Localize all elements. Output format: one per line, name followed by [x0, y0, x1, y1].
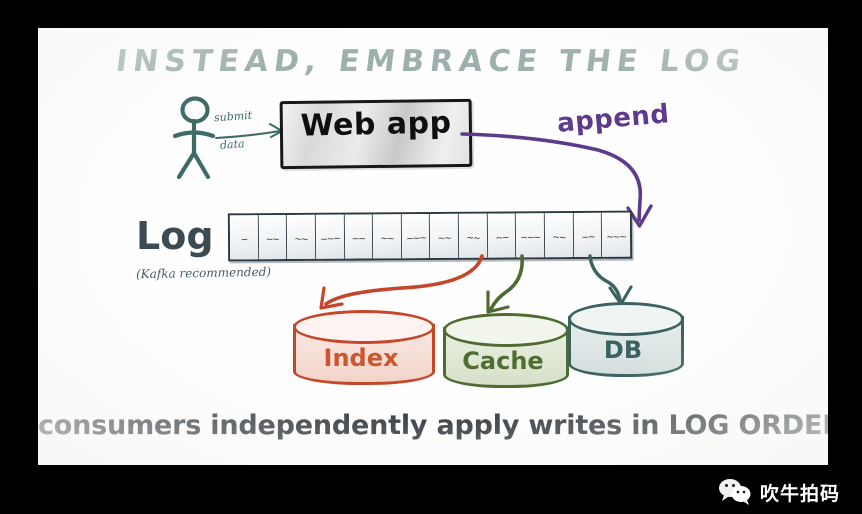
log-cell: ~~	[373, 214, 402, 258]
consumer-index-label: Index	[293, 344, 429, 372]
log-entry-squiggle: ~~	[552, 232, 566, 243]
log-entry-squiggle: ~~	[495, 233, 509, 244]
log-entry-squiggle: ~~~	[320, 234, 340, 245]
log-entry-squiggle: ~~	[380, 234, 394, 245]
log-entry-squiggle: ~~~	[520, 233, 540, 243]
log-cell: ~~	[488, 213, 517, 257]
consumer-cache: Cache	[443, 313, 563, 389]
log-cell: ~~	[287, 215, 316, 259]
log-cell: ~~	[545, 213, 574, 257]
log-entry-squiggle: ~~~	[406, 233, 426, 244]
cylinder-top	[443, 313, 569, 347]
log-cell: ~~	[430, 214, 459, 258]
log-cell: ~~~	[602, 213, 630, 257]
screenshot-frame: INSTEAD, EMBRACE THE LOG submit data Web…	[0, 0, 862, 514]
caption-text: consumers independently apply writes in …	[38, 410, 828, 441]
log-cell: ~~~	[516, 213, 545, 257]
consumer-db-label: DB	[568, 336, 678, 364]
log-entry-squiggle: ~~	[466, 233, 480, 244]
cylinder-top	[568, 302, 684, 336]
cylinder-top	[293, 310, 435, 344]
log-entry-squiggle: ~~	[438, 233, 451, 243]
log-cell: ~	[230, 215, 259, 259]
log-cell: ~~	[258, 215, 287, 259]
page-title: INSTEAD, EMBRACE THE LOG	[114, 44, 718, 79]
log-label: Log	[136, 214, 214, 258]
log-cell: ~~~	[402, 214, 431, 258]
log-entry-squiggle: ~	[240, 235, 247, 245]
webapp-label: Web app	[286, 105, 467, 144]
log-entry-squiggle: ~~~	[606, 232, 626, 242]
consumer-index: Index	[293, 310, 429, 388]
whiteboard-canvas: INSTEAD, EMBRACE THE LOG submit data Web…	[38, 28, 828, 465]
log-cell: ~~	[344, 214, 373, 258]
log-cell: ~~~	[316, 215, 345, 259]
log-entry-squiggle: ~~	[352, 234, 365, 244]
watermark: 吹牛拍码	[718, 478, 840, 506]
wechat-icon	[718, 478, 752, 506]
consumer-db: DB	[568, 302, 678, 382]
log-sublabel: (Kafka recommended)	[136, 265, 271, 281]
log-entry-squiggle: ~~	[266, 235, 279, 245]
log-to-cache-arrow-icon	[478, 254, 534, 320]
consumer-cache-label: Cache	[443, 347, 563, 375]
watermark-text: 吹牛拍码	[760, 479, 840, 506]
log-cell: ~~	[574, 213, 603, 257]
log-entry-squiggle: ~~	[581, 232, 595, 243]
log-cell: ~~	[459, 214, 488, 258]
log-entry-squiggle: ~~	[294, 234, 308, 245]
